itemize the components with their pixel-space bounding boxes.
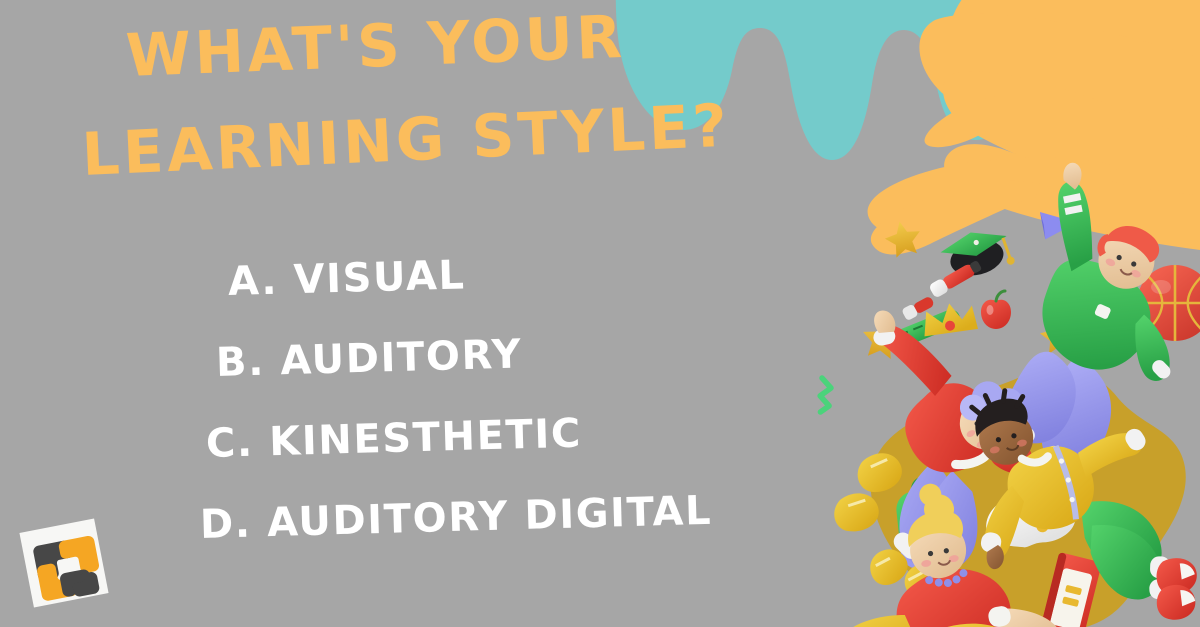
pinwheel-squares-logo[interactable] xyxy=(16,511,112,615)
option-c[interactable]: C. KINESTHETIC xyxy=(205,410,712,464)
options-list: A. VISUAL B. AUDITORY C. KINESTHETIC D. … xyxy=(200,262,712,545)
page-title: WHAT'S YOUR LEARNING STYLE? xyxy=(108,26,748,184)
option-a[interactable]: A. VISUAL xyxy=(227,248,712,302)
headline-line-2: LEARNING STYLE? xyxy=(81,95,749,184)
yellow-shoe xyxy=(851,446,907,498)
yellow-shoe xyxy=(829,488,883,538)
poster-canvas: WHAT'S YOUR LEARNING STYLE? A. VISUAL B.… xyxy=(0,0,1200,627)
option-b[interactable]: B. AUDITORY xyxy=(215,329,712,383)
option-d[interactable]: D. AUDITORY DIGITAL xyxy=(199,491,712,545)
